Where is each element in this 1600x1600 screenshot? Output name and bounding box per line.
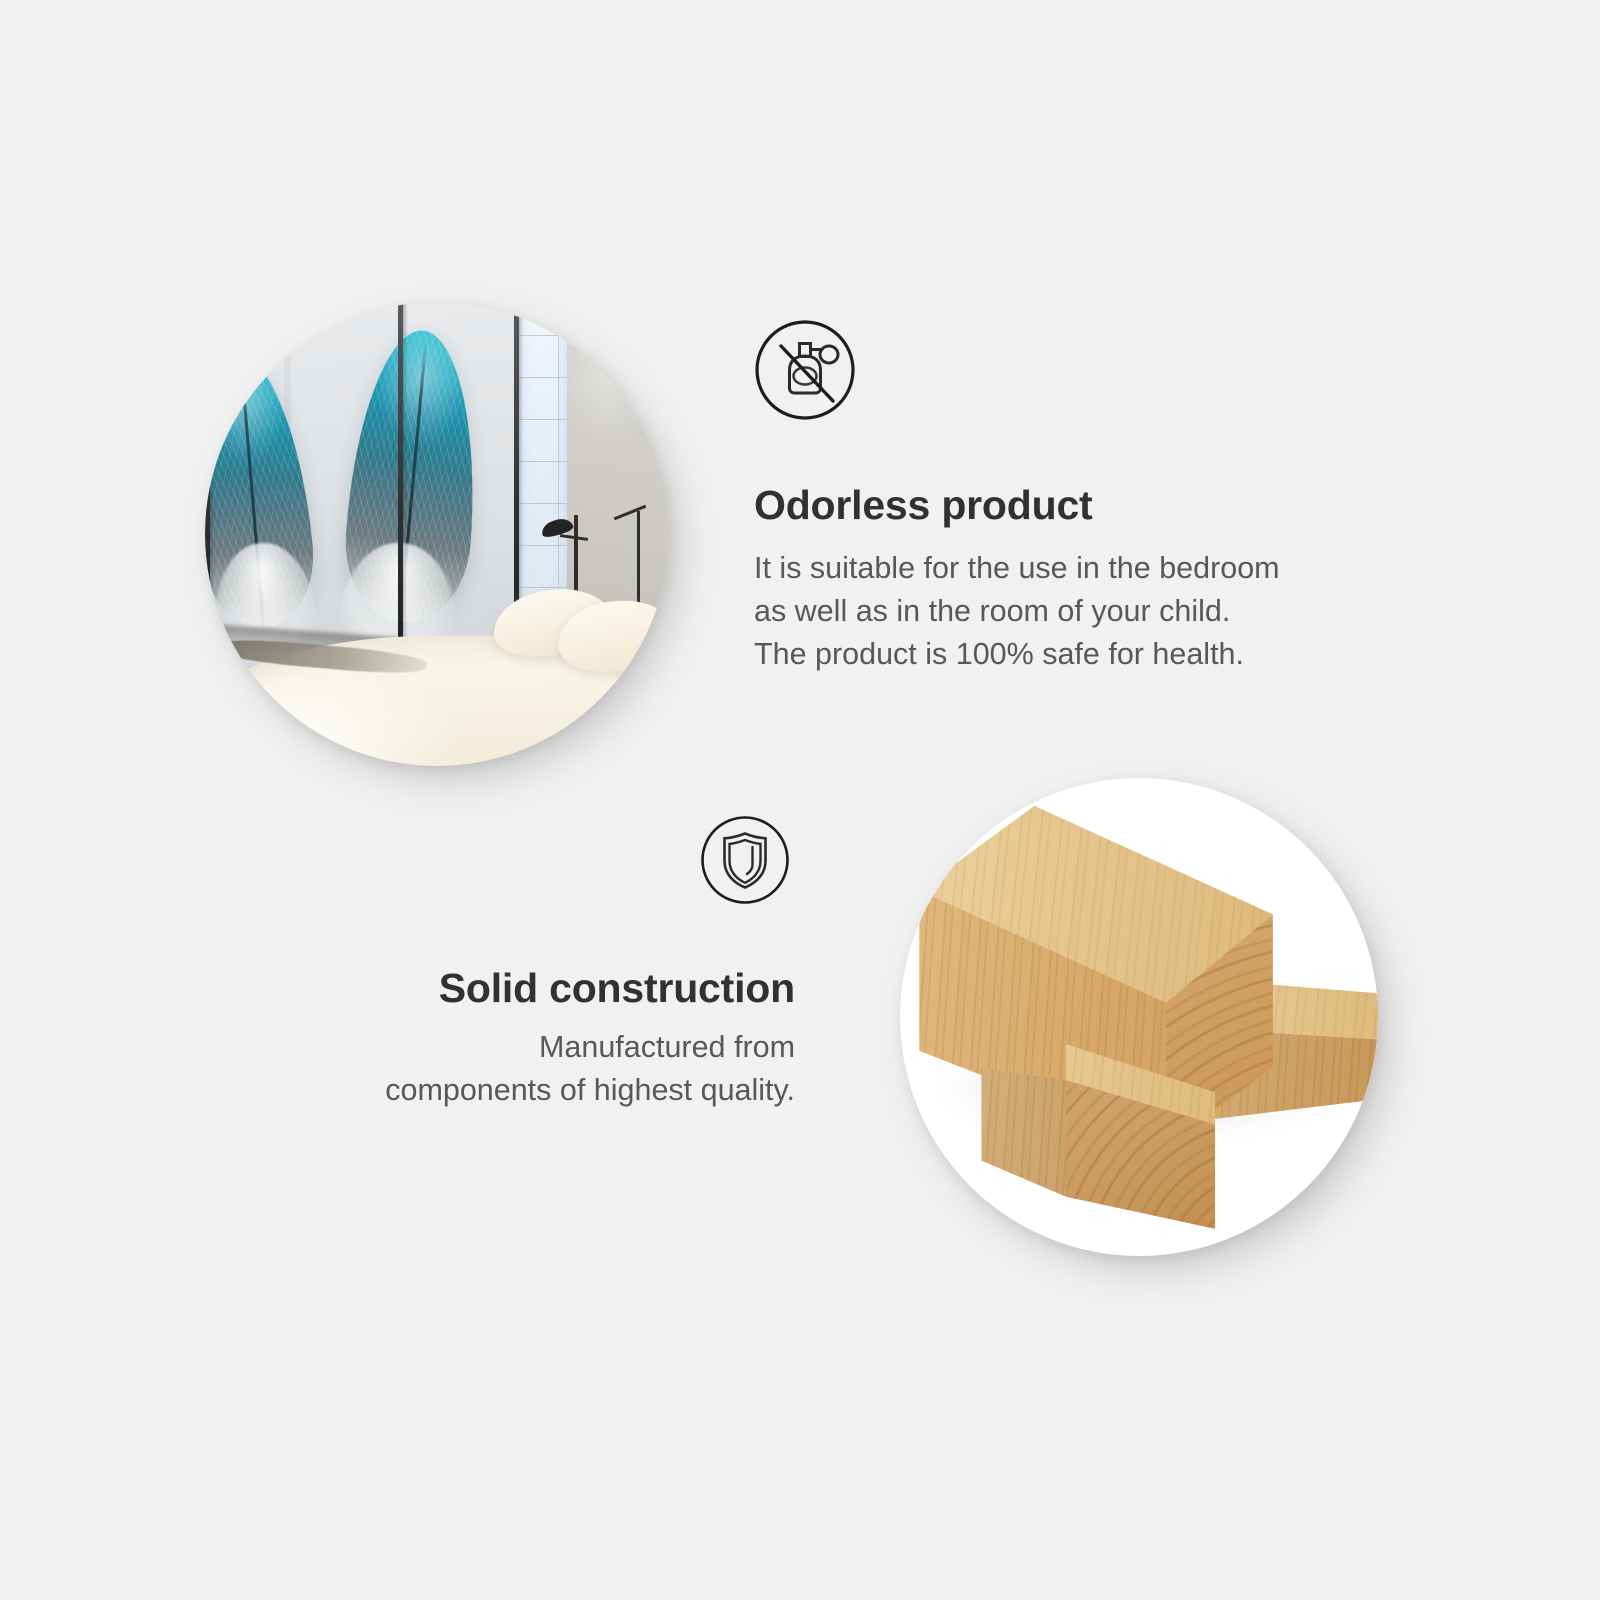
feature-solid-construction-title: Solid construction <box>180 965 795 1012</box>
feature-odorless-body-line-1: It is suitable for the use in the bedroo… <box>754 551 1280 585</box>
feature-solid-construction-body-line-2: components of highest quality. <box>385 1073 795 1107</box>
bedroom-photo-inner <box>205 302 669 766</box>
wood-beam-front <box>976 1036 1225 1237</box>
feature-solid-construction-text: Solid construction Manufactured from com… <box>180 965 795 1112</box>
feature-odorless-title: Odorless product <box>754 482 1454 529</box>
feature-odorless-body-line-3: The product is 100% safe for health. <box>754 637 1244 671</box>
feature-odorless-body: It is suitable for the use in the bedroo… <box>754 547 1454 676</box>
infographic-canvas: Odorless product It is suitable for the … <box>0 0 1600 1600</box>
panel-divider-2 <box>398 302 403 682</box>
feature-solid-construction-body: Manufactured from components of highest … <box>180 1026 795 1112</box>
wooden-beams-photo <box>900 778 1378 1256</box>
shield-icon <box>699 814 791 906</box>
wall-spot <box>613 358 631 368</box>
wood-photo-inner <box>900 778 1378 1256</box>
no-perfume-icon <box>753 318 857 422</box>
bedroom-feather-wall-art-photo <box>205 302 669 766</box>
feature-solid-construction-body-line-1: Manufactured from <box>539 1030 795 1064</box>
feature-odorless-body-line-2: as well as in the room of your child. <box>754 594 1230 628</box>
feature-odorless-text: Odorless product It is suitable for the … <box>754 482 1454 676</box>
